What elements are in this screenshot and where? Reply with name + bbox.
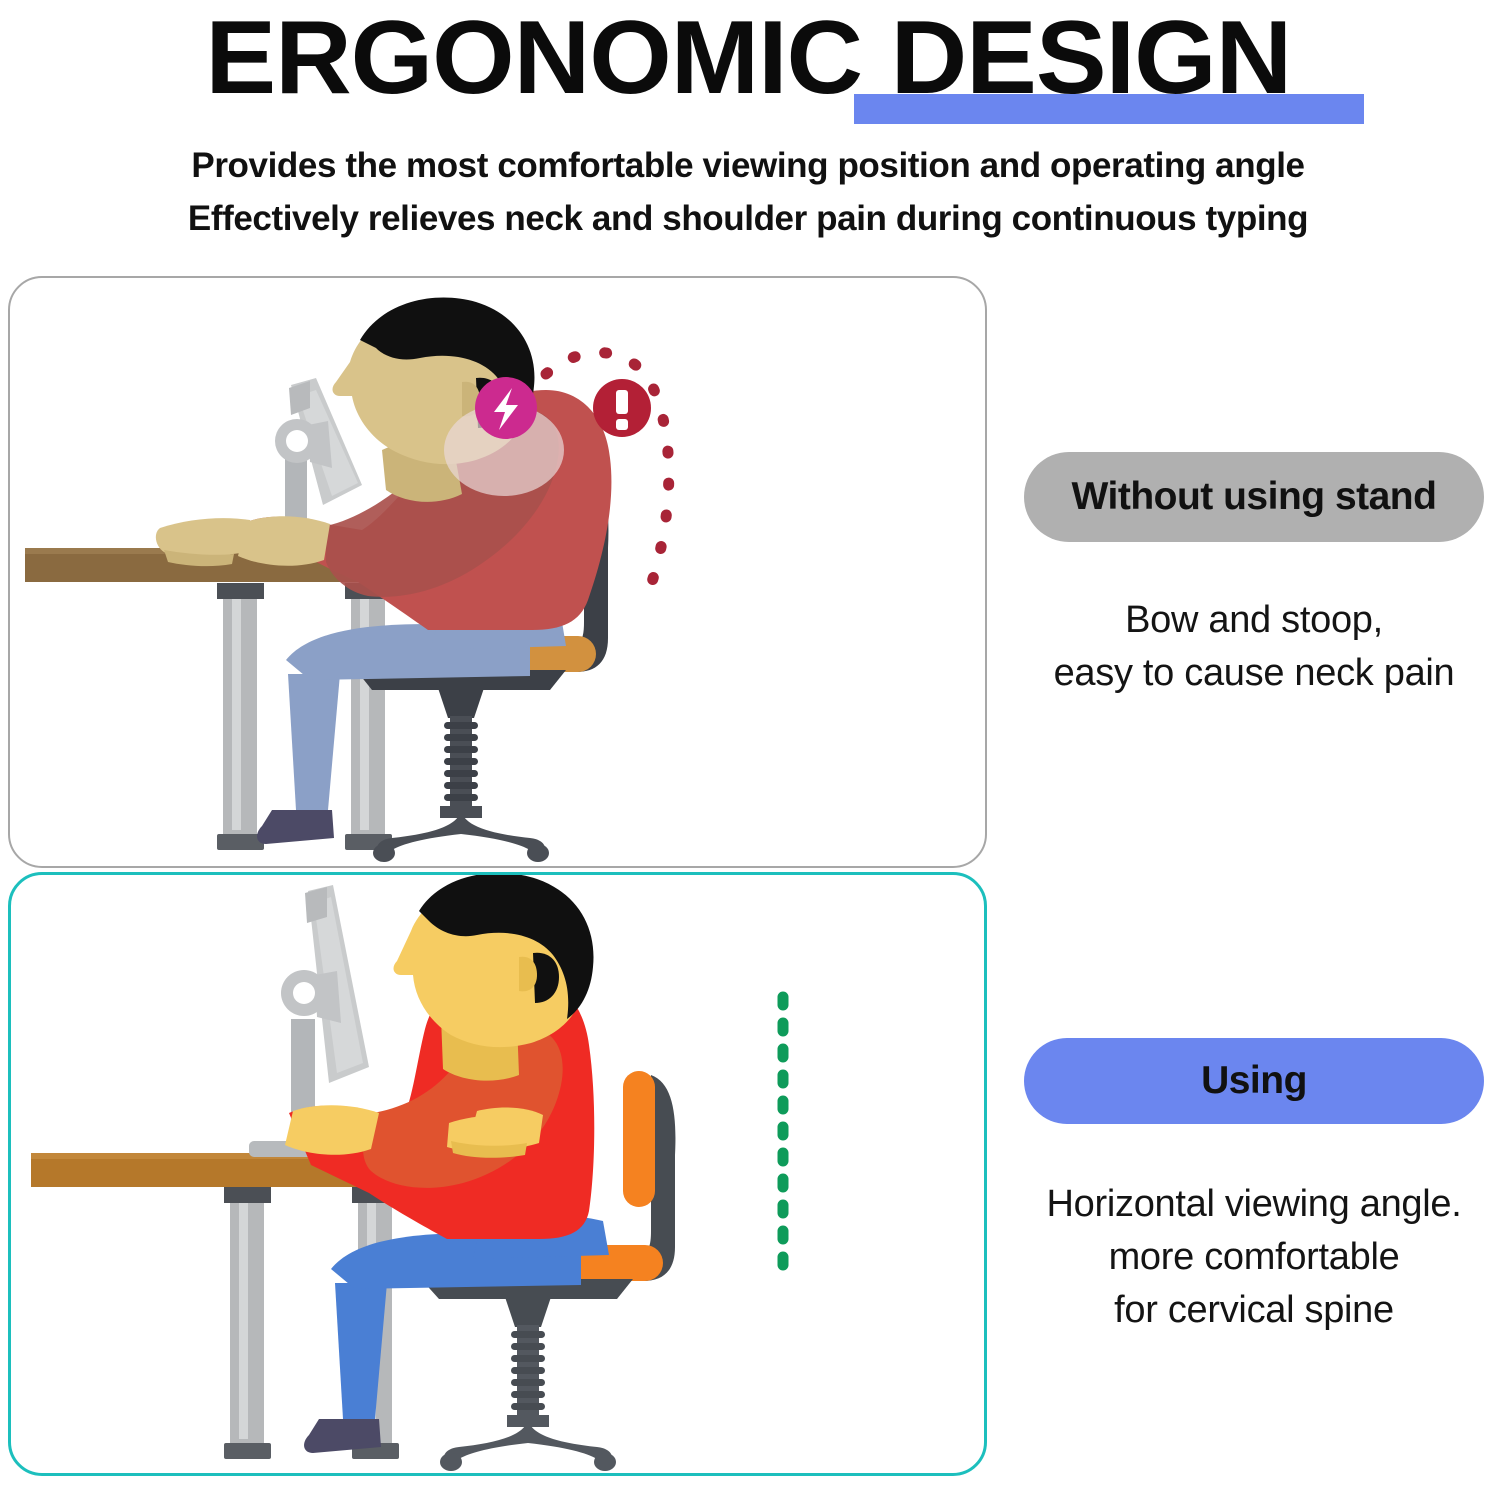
label-pill-without-stand[interactable]: Without using stand (1024, 452, 1484, 542)
illustration-without-stand (10, 278, 985, 866)
panel-without-stand (8, 276, 987, 868)
subtitle-line-2: Effectively relieves neck and shoulder p… (0, 200, 1496, 238)
subtitle-line-1: Provides the most comfortable viewing po… (0, 147, 1496, 185)
warning-badge (593, 379, 651, 437)
page-title-inner: ERGONOMIC DESIGN (216, 6, 1281, 110)
caption-using-line-2: more comfortable (1006, 1231, 1496, 1284)
header: ERGONOMIC DESIGN Provides the most comfo… (0, 0, 1496, 258)
shoe (304, 1419, 381, 1453)
caption-without-line-2: easy to cause neck pain (1016, 647, 1492, 700)
panel-using-stand (8, 872, 987, 1476)
chair-lumbar-pad (623, 1071, 655, 1207)
caption-using: Horizontal viewing angle. more comfortab… (1006, 1178, 1496, 1337)
page-title-wrap: ERGONOMIC DESIGN (0, 6, 1496, 116)
pain-badge (475, 377, 537, 439)
illustration-using-stand (11, 875, 986, 1473)
shoe (257, 810, 334, 844)
caption-using-line-1: Horizontal viewing angle. (1006, 1178, 1496, 1231)
caption-without-stand: Bow and stoop, easy to cause neck pain (1016, 594, 1492, 700)
page-title: ERGONOMIC DESIGN (205, 6, 1291, 110)
label-pill-using[interactable]: Using (1024, 1038, 1484, 1124)
caption-without-line-1: Bow and stoop, (1016, 594, 1492, 647)
caption-using-line-3: for cervical spine (1006, 1284, 1496, 1337)
